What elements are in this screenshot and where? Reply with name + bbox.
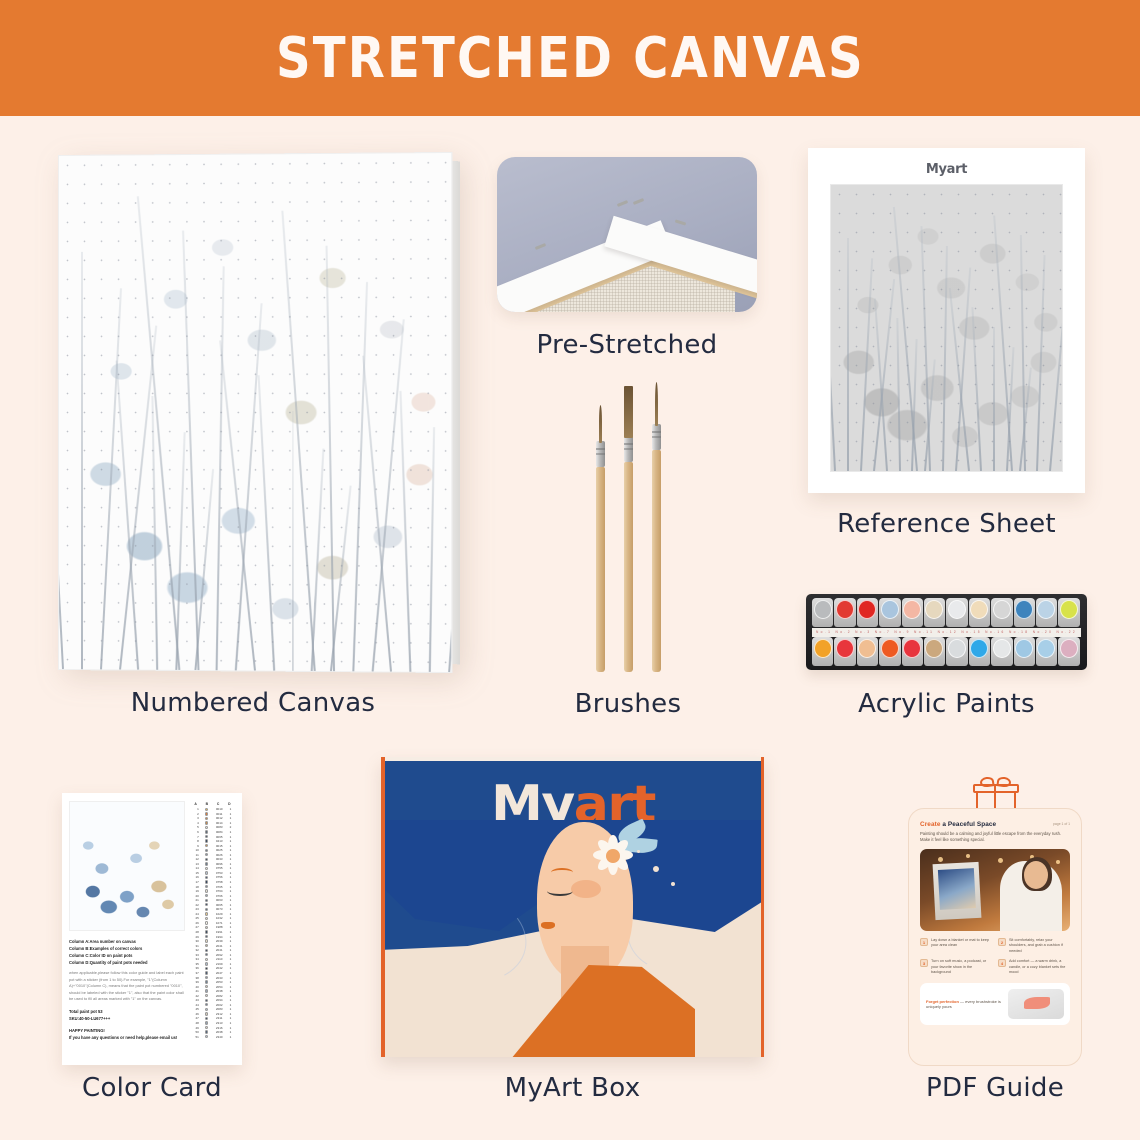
pdf-tip: 1Lay down a blanket or mat to keep your …: [920, 938, 991, 954]
cell-color-swatch: [201, 894, 213, 897]
cell-area-number: 21: [190, 898, 201, 902]
cell-color-swatch: [201, 1003, 213, 1006]
cell-quantity: 1: [226, 1035, 235, 1039]
cell-color-swatch: [201, 871, 213, 874]
cell-color-swatch: [201, 958, 213, 961]
paint-pot-lid: [836, 639, 854, 658]
cell-color-id: 2169: [212, 962, 226, 966]
cell-quantity: 1: [226, 976, 235, 980]
paint-label-strip: No.1 No.2 No.3 No.7 No.9 No.11 No.12 No.…: [812, 628, 1081, 637]
cell-area-number: 29: [190, 935, 201, 939]
cell-area-number: 32: [190, 948, 201, 952]
cell-area-number: 12: [190, 857, 201, 861]
cell-area-number: 2: [190, 812, 201, 816]
myart-box-image: Myart paint by numbers: [381, 757, 764, 1057]
paint-pot: [946, 598, 967, 627]
paint-brush: [596, 403, 605, 672]
flower-center: [606, 849, 620, 863]
cell-area-number: 36: [190, 966, 201, 970]
cell-color-id: 0025: [212, 848, 226, 852]
cell-quantity: 1: [226, 844, 235, 848]
bokeh-light: [998, 858, 1003, 863]
paint-pot: [969, 637, 990, 666]
cell-area-number: 45: [190, 1007, 201, 1011]
cell-quantity: 1: [226, 948, 235, 952]
canvas-front-face: [58, 152, 452, 673]
tip-text: Sit comfortably, relax your shoulders, a…: [1009, 938, 1069, 954]
cell-quantity: 1: [226, 1021, 235, 1025]
paint-pot: [902, 637, 923, 666]
cell-quantity: 1: [226, 812, 235, 816]
cell-color-id: 0756: [212, 875, 226, 879]
paint-pot-lid: [1015, 600, 1033, 619]
paint-pot-lid: [858, 600, 876, 619]
cell-quantity: 1: [226, 916, 235, 920]
paint-pot: [879, 637, 900, 666]
dot-decoration: [637, 850, 640, 853]
cell-quantity: 1: [226, 994, 235, 998]
cell-color-id: 2082: [212, 994, 226, 998]
cell-area-number: 41: [190, 989, 201, 993]
label-pdf-guide: PDF Guide: [900, 1073, 1090, 1103]
paint-pot: [834, 598, 855, 627]
cell-quantity: 1: [226, 925, 235, 929]
cell-area-number: 8: [190, 839, 201, 843]
cell-color-swatch: [201, 899, 213, 902]
cell-area-number: 3: [190, 816, 201, 820]
paint-pot: [969, 598, 990, 627]
cell-color-id: 0084: [212, 830, 226, 834]
cell-area-number: 37: [190, 971, 201, 975]
paint-pot: [924, 598, 945, 627]
cell-area-number: 51: [190, 1035, 201, 1039]
legend-column-b: Column B:Examples of correct colors: [69, 945, 185, 952]
paint-pot: [834, 637, 855, 666]
cell-area-number: 25: [190, 916, 201, 920]
staple-icon: [535, 243, 546, 250]
label-color-card: Color Card: [42, 1073, 262, 1103]
cell-area-number: 18: [190, 885, 201, 889]
brushes-image: [588, 392, 670, 672]
cell-quantity: 1: [226, 907, 235, 911]
cell-area-number: 47: [190, 1016, 201, 1020]
cell-quantity: 1: [226, 903, 235, 907]
cell-quantity: 1: [226, 935, 235, 939]
cell-color-id: 1991: [212, 930, 226, 934]
cell-area-number: 24: [190, 912, 201, 916]
paint-pot: [946, 637, 967, 666]
cell-color-id: 2039: [212, 939, 226, 943]
reference-sheet-image: Myart: [808, 148, 1085, 493]
cell-color-swatch: [201, 1026, 213, 1029]
cell-color-id: 0026: [212, 853, 226, 857]
cell-quantity: 1: [226, 848, 235, 852]
tip-icon: 2: [998, 938, 1006, 946]
cell-color-id: 2110: [212, 957, 226, 961]
cell-color-swatch: [201, 835, 213, 838]
cell-color-id: 0096: [212, 862, 226, 866]
cell-quantity: 1: [226, 880, 235, 884]
color-card-table-header: A B C D: [190, 801, 235, 807]
cell-color-id: 2002: [212, 1003, 226, 1007]
cell-area-number: 31: [190, 944, 201, 948]
daisy-flower-icon: [591, 834, 635, 878]
cell-area-number: 15: [190, 871, 201, 875]
staple-icon: [633, 198, 644, 205]
paint-pot-lid: [903, 600, 921, 619]
cell-area-number: 28: [190, 930, 201, 934]
paint-pot-lid: [881, 600, 899, 619]
cell-color-swatch: [201, 976, 213, 979]
cell-color-swatch: [201, 821, 213, 824]
paint-pot-lid: [1060, 600, 1078, 619]
cell-color-id: 1032: [212, 916, 226, 920]
cell-quantity: 1: [226, 885, 235, 889]
cell-color-swatch: [201, 1017, 213, 1020]
cell-area-number: 19: [190, 889, 201, 893]
cell-color-id: 0755: [212, 866, 226, 870]
pdf-heading-rest: a Peaceful Space: [941, 821, 997, 828]
paint-pot-row-top: [812, 598, 1081, 627]
label-myart-box: MyArt Box: [381, 1073, 764, 1103]
cell-quantity: 1: [226, 898, 235, 902]
pdf-tip: 3Turn on soft music, a podcast, or your …: [920, 959, 991, 975]
cell-area-number: 26: [190, 921, 201, 925]
cell-color-swatch: [201, 830, 213, 833]
paint-pot: [857, 598, 878, 627]
cell-color-swatch: [201, 994, 213, 997]
paint-pot-lid: [970, 600, 988, 619]
cell-quantity: 1: [226, 966, 235, 970]
legend-column-c: Column C:Color ID on paint pots: [69, 952, 185, 959]
cell-color-id: 1994: [212, 935, 226, 939]
cell-color-swatch: [201, 844, 213, 847]
cell-area-number: 23: [190, 907, 201, 911]
cell-color-id: 0766: [212, 894, 226, 898]
pdf-tips-list: 1Lay down a blanket or mat to keep your …: [920, 938, 1070, 975]
brush-handle: [624, 462, 633, 672]
cell-color-id: 2083: [212, 1007, 226, 1011]
paint-pot-lid: [858, 639, 876, 658]
paint-pot: [902, 598, 923, 627]
eyebrow: [551, 868, 573, 877]
cell-quantity: 1: [226, 989, 235, 993]
paint-pot-row-bottom: [812, 637, 1081, 666]
cell-quantity: 1: [226, 839, 235, 843]
pdf-footer-note: Forget perfection — every brushstroke is…: [920, 983, 1070, 1025]
cell-color-id: 2312: [212, 1012, 226, 1016]
tip-icon: 4: [998, 959, 1006, 967]
color-card-image: Column A:Area number on canvas Column B:…: [62, 793, 242, 1065]
cell-color-swatch: [201, 889, 213, 892]
cell-color-swatch: [201, 1008, 213, 1011]
paint-pot: [812, 598, 833, 627]
cell-quantity: 1: [226, 835, 235, 839]
number-dots: [831, 185, 1062, 471]
paint-pot-lid: [993, 639, 1011, 658]
paint-pot: [991, 598, 1012, 627]
cell-area-number: 50: [190, 1030, 201, 1034]
cell-color-id: 1029: [212, 912, 226, 916]
cell-color-swatch: [201, 839, 213, 842]
cell-quantity: 1: [226, 985, 235, 989]
reference-artwork: [830, 184, 1063, 472]
cell-color-swatch: [201, 808, 213, 811]
cell-color-swatch: [201, 935, 213, 938]
header-a: A: [190, 801, 201, 807]
cell-area-number: 42: [190, 994, 201, 998]
bokeh-light: [966, 854, 970, 858]
cell-color-id: 2054: [212, 985, 226, 989]
cell-area-number: 5: [190, 825, 201, 829]
number-dots: [59, 153, 451, 672]
color-card-artwork: [69, 801, 185, 931]
color-card-note: when applicable,please follow this color…: [69, 970, 185, 1003]
cell-quantity: 1: [226, 866, 235, 870]
painting-on-easel: [938, 868, 976, 910]
label-brushes: Brushes: [508, 689, 748, 719]
paint-pot: [1014, 637, 1035, 666]
color-card-happy: HAPPY PAINTING!: [69, 1027, 185, 1034]
cell-quantity: 1: [226, 1030, 235, 1034]
box-illustration: [385, 872, 761, 1057]
cell-color-id: 0015: [212, 844, 226, 848]
tip-icon: 1: [920, 938, 928, 946]
cell-color-swatch: [201, 930, 213, 933]
cell-area-number: 10: [190, 848, 201, 852]
cell-quantity: 1: [226, 962, 235, 966]
paint-pot: [1036, 598, 1057, 627]
cell-area-number: 46: [190, 1012, 201, 1016]
cell-color-swatch: [201, 967, 213, 970]
label-acrylic-paints: Acrylic Paints: [806, 689, 1087, 719]
lips: [541, 922, 555, 929]
pdf-guide-image: page 1 of 1 Create a Peaceful Space Pain…: [900, 778, 1090, 1068]
cell-color-swatch: [201, 885, 213, 888]
cell-area-number: 9: [190, 844, 201, 848]
cell-color-id: 0065: [212, 903, 226, 907]
closed-eye: [547, 886, 573, 896]
paint-pot: [1014, 598, 1035, 627]
cell-quantity: 1: [226, 1016, 235, 1020]
cell-color-swatch: [201, 953, 213, 956]
color-card-contact: If you have any questions or need help,p…: [69, 1034, 185, 1041]
paint-pot: [1058, 637, 1079, 666]
page-title: STRETCHED CANVAS: [276, 26, 865, 91]
cell-color-id: 2340: [212, 1035, 226, 1039]
brush-bristles: [624, 386, 633, 438]
bokeh-light: [938, 857, 943, 862]
cell-color-id: 2038: [212, 989, 226, 993]
paint-label-text: No.1 No.2 No.3 No.7 No.9 No.11 No.12 No.…: [812, 628, 1081, 637]
color-card-sku: SKU:40-50-LU677+++: [69, 1015, 185, 1022]
paint-pot: [879, 598, 900, 627]
cell-color-id: 0033: [212, 857, 226, 861]
cell-color-swatch: [201, 849, 213, 852]
staple-icon: [675, 219, 686, 225]
brush-handle: [596, 467, 605, 672]
brush-ferrule: [652, 424, 661, 450]
cell-color-swatch: [201, 980, 213, 983]
paint-pot-lid: [814, 639, 832, 658]
paint-brush: [652, 380, 661, 672]
paint-pot: [857, 637, 878, 666]
cell-quantity: 1: [226, 862, 235, 866]
paint-pot-lid: [1037, 600, 1055, 619]
bokeh-light: [1056, 860, 1060, 864]
paint-brush: [624, 384, 633, 672]
brush-ferrule: [596, 441, 605, 467]
tip-icon: 3: [920, 959, 928, 967]
cell-area-number: 27: [190, 925, 201, 929]
reference-sheet-logo: Myart: [823, 162, 1070, 177]
cell-color-swatch: [201, 985, 213, 988]
paint-pot-lid: [881, 639, 899, 658]
cell-color-id: 2033: [212, 976, 226, 980]
cell-area-number: 44: [190, 1003, 201, 1007]
cell-color-swatch: [201, 921, 213, 924]
cell-color-id: 2041: [212, 948, 226, 952]
cell-color-id: 0011: [212, 812, 226, 816]
gift-bow-left: [979, 776, 994, 788]
cell-quantity: 1: [226, 944, 235, 948]
header-d: D: [224, 801, 235, 807]
cell-quantity: 1: [226, 921, 235, 925]
painter-head: [1024, 861, 1048, 889]
cell-area-number: 33: [190, 953, 201, 957]
cell-quantity: 1: [226, 821, 235, 825]
cell-color-id: 2038: [212, 1030, 226, 1034]
paint-pot-lid: [948, 639, 966, 658]
cell-color-id: 0065: [212, 835, 226, 839]
cell-color-swatch: [201, 971, 213, 974]
cell-area-number: 40: [190, 985, 201, 989]
paint-pot: [1058, 598, 1079, 627]
color-card-legend: Column A:Area number on canvas Column B:…: [69, 938, 185, 966]
cell-quantity: 1: [226, 807, 235, 811]
cheek-blush: [571, 880, 601, 898]
paint-pot: [812, 637, 833, 666]
cell-color-id: 0012: [212, 816, 226, 820]
cell-color-swatch: [201, 912, 213, 915]
cell-color-id: 2311: [212, 1016, 226, 1020]
paint-pot-lid: [814, 600, 832, 619]
brush-bristles: [655, 382, 658, 426]
cell-color-swatch: [201, 867, 213, 870]
acrylic-paints-image: No.1 No.2 No.3 No.7 No.9 No.11 No.12 No.…: [806, 594, 1087, 670]
color-card-table-body: 1001012001113001214001415008326008417006…: [190, 807, 235, 1039]
paint-pot-lid: [903, 639, 921, 658]
cell-color-id: 2041: [212, 944, 226, 948]
cell-color-id: 0764: [212, 889, 226, 893]
cell-color-swatch: [201, 962, 213, 965]
cell-color-swatch: [201, 939, 213, 942]
cell-color-swatch: [201, 1021, 213, 1024]
cell-color-swatch: [201, 880, 213, 883]
header-b: B: [201, 801, 212, 807]
cell-quantity: 1: [226, 871, 235, 875]
color-card-total: Total paint pot 53: [69, 1008, 185, 1015]
color-card-table: A B C D 10010120011130012140014150083260…: [190, 801, 235, 1057]
cell-area-number: 1: [190, 807, 201, 811]
numbered-canvas-image: [58, 155, 448, 670]
cell-area-number: 6: [190, 830, 201, 834]
cell-color-swatch: [201, 926, 213, 929]
paint-pot-lid: [1060, 639, 1078, 658]
cell-area-number: 7: [190, 835, 201, 839]
pdf-tip: 4Add comfort — a warm drink, a candle, o…: [998, 959, 1069, 975]
cell-quantity: 1: [226, 857, 235, 861]
paint-pot-lid: [925, 600, 943, 619]
table-row: 5123401: [190, 1034, 235, 1039]
legend-column-a: Column A:Area number on canvas: [69, 938, 185, 945]
cell-quantity: 1: [226, 853, 235, 857]
pdf-heading: Create a Peaceful Space: [920, 821, 1070, 828]
cell-color-swatch: [201, 853, 213, 856]
cell-quantity: 2: [226, 825, 235, 829]
cell-quantity: 1: [226, 875, 235, 879]
cell-color-id: 2047: [212, 971, 226, 975]
cell-quantity: 1: [226, 980, 235, 984]
brush-bristles: [599, 405, 602, 443]
staple-icon: [617, 200, 628, 207]
cell-area-number: 35: [190, 962, 201, 966]
cell-area-number: 48: [190, 1021, 201, 1025]
paint-pot: [1036, 637, 1057, 666]
cell-color-swatch: [201, 876, 213, 879]
paint-pot-lid: [1037, 639, 1055, 658]
cell-quantity: 1: [226, 953, 235, 957]
pdf-tip: 2Sit comfortably, relax your shoulders, …: [998, 938, 1069, 954]
cell-color-id: 2316: [212, 1026, 226, 1030]
cell-color-id: 0063: [212, 898, 226, 902]
cell-area-number: 43: [190, 998, 201, 1002]
infographic-page: STRETCHED CANVAS Numbered Canvas Pre-Str…: [0, 0, 1140, 1140]
label-numbered-canvas: Numbered Canvas: [58, 688, 448, 718]
cell-quantity: 1: [226, 957, 235, 961]
cell-color-id: 0073: [212, 907, 226, 911]
label-pre-stretched: Pre-Stretched: [497, 330, 757, 360]
cell-color-swatch: [201, 944, 213, 947]
cell-quantity: 1: [226, 939, 235, 943]
legend-column-d: Column D:Quantity of paint pots needed: [69, 959, 185, 966]
cell-color-id: 0765: [212, 885, 226, 889]
cell-quantity: 1: [226, 830, 235, 834]
cell-color-id: 1071: [212, 921, 226, 925]
pdf-footer-text: Forget perfection — every brushstroke is…: [926, 999, 1002, 1010]
dot-decoration: [671, 882, 675, 886]
cell-color-swatch: [201, 826, 213, 829]
cell-area-number: 13: [190, 862, 201, 866]
pdf-footer-photo: [1008, 989, 1064, 1019]
cell-color-swatch: [201, 1035, 213, 1038]
cell-area-number: 30: [190, 939, 201, 943]
brush-ferrule: [624, 436, 633, 462]
label-reference-sheet: Reference Sheet: [808, 509, 1085, 539]
cell-color-id: 0083: [212, 825, 226, 829]
cell-area-number: 39: [190, 980, 201, 984]
cell-area-number: 20: [190, 894, 201, 898]
cell-quantity: 1: [226, 971, 235, 975]
cell-area-number: 34: [190, 957, 201, 961]
cell-quantity: 1: [226, 816, 235, 820]
cell-quantity: 1: [226, 889, 235, 893]
cell-color-id: 0758: [212, 880, 226, 884]
cell-quantity: 1: [226, 912, 235, 916]
paint-pot-lid: [948, 600, 966, 619]
pdf-photo: [920, 849, 1070, 931]
paint-pot-lid: [1015, 639, 1033, 658]
